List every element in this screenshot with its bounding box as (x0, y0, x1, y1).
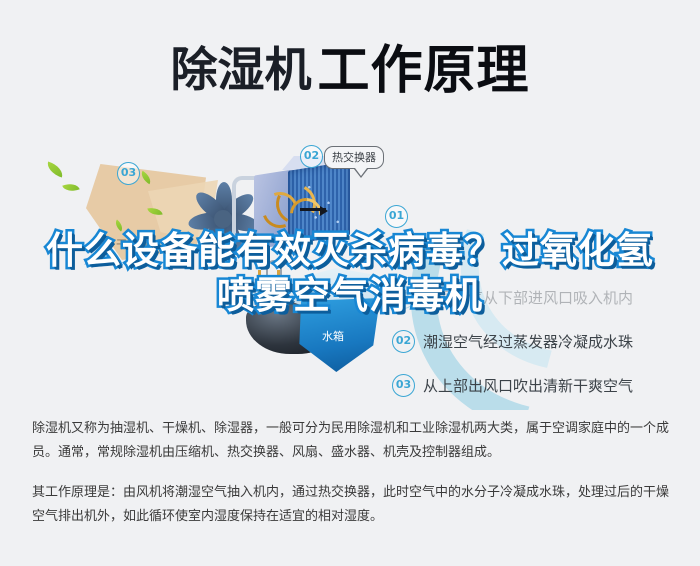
body-paragraph-2: 其工作原理是：由风机将潮湿空气抽入机内，通过热交换器，此时空气中的水分子冷凝成水… (32, 481, 672, 529)
overlay-headline: 什么设备能有效灭杀病毒？过氧化氢喷雾空气消毒机 (0, 228, 700, 318)
leaf-icon (62, 180, 80, 194)
body-paragraph-1: 除湿机又称为抽湿机、干燥机、除湿器，一般可分为民用除湿机和工业除湿机两大类，属于… (32, 417, 672, 465)
airflow-arrow-icon (300, 208, 326, 211)
marker-01-humid-air: 01 (385, 205, 408, 228)
legend-item: 03 从上部出风口吹出清新干爽空气 (392, 374, 692, 397)
page-title-product: 除湿机 (170, 43, 311, 98)
marker-03-dry-air: 03 (117, 162, 140, 185)
page-title-topic: 工作原理 (317, 41, 529, 101)
heat-exchanger-callout: 热交换器 (324, 146, 384, 169)
article-body: 除湿机又称为抽湿机、干燥机、除湿器，一般可分为民用除湿机和工业除湿机两大类，属于… (32, 417, 672, 545)
legend-item: 02 潮湿空气经过蒸发器冷凝成水珠 (392, 330, 692, 353)
marker-02-heat-exchanger: 02 (300, 145, 323, 168)
page-root: 除湿机工作原理 干燥空气 (0, 0, 700, 566)
legend-label: 从上部出风口吹出清新干爽空气 (423, 375, 633, 396)
water-tank-label: 水箱 (322, 328, 344, 344)
page-title: 除湿机工作原理 (0, 28, 700, 103)
legend-number: 02 (392, 330, 415, 353)
legend-label: 潮湿空气经过蒸发器冷凝成水珠 (423, 331, 633, 352)
leaf-icon (45, 161, 66, 177)
legend-number: 03 (392, 374, 415, 397)
